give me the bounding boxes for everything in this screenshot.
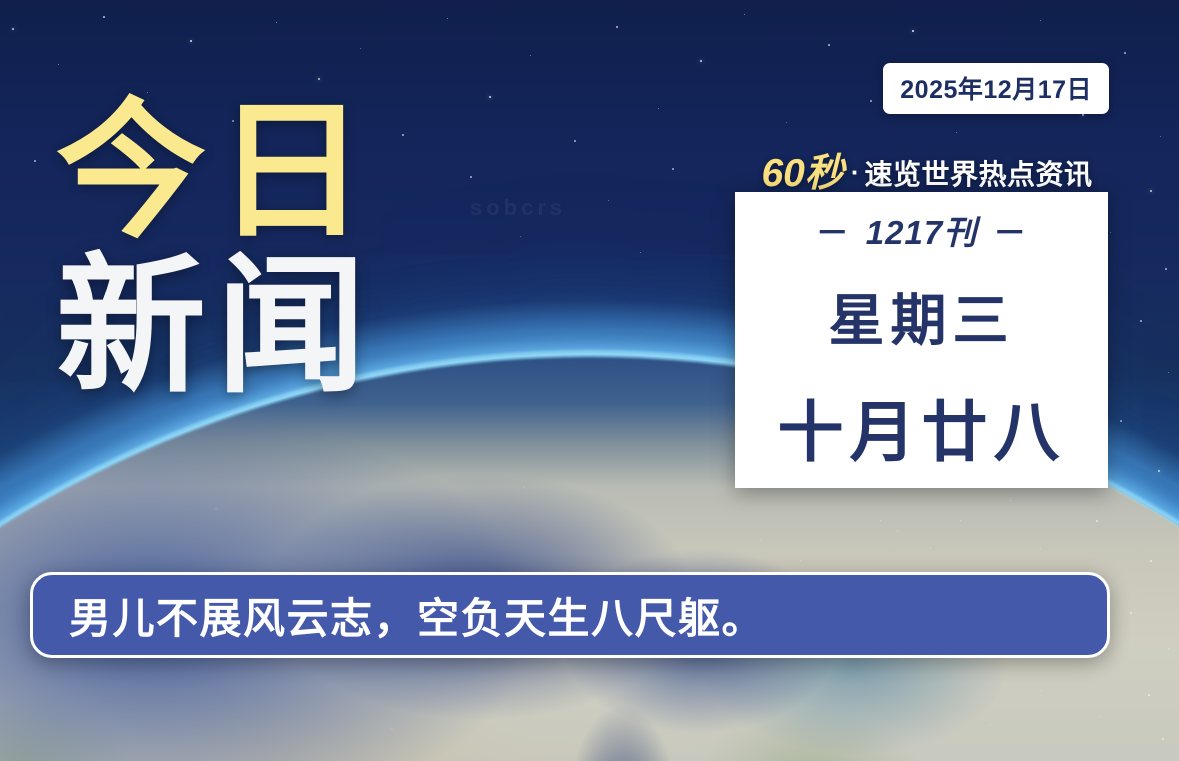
title-line-news: 新闻: [56, 253, 376, 400]
tagline-separator: ·: [844, 157, 865, 187]
issue-dash-right: －: [993, 206, 1027, 254]
date-badge: 2025年12月17日: [883, 63, 1109, 114]
issue-row: － 1217刊 －: [816, 206, 1027, 254]
tagline-text: 速览世界热点资讯: [865, 159, 1093, 190]
tagline-seconds: 60秒: [761, 152, 843, 195]
lunar-date-label: 十月廿八: [778, 379, 1066, 475]
poster-title: 今日 新闻: [56, 98, 376, 400]
quote-banner: 男儿不展风云志，空负天生八尺躯。: [30, 572, 1110, 658]
quote-text: 男儿不展风云志，空负天生八尺躯。: [69, 585, 765, 646]
issue-dash-left: －: [816, 206, 850, 254]
title-line-today: 今日: [56, 98, 376, 245]
weekday-label: 星期三: [829, 276, 1015, 357]
tagline: 60秒·速览世界热点资讯: [742, 142, 1112, 198]
news-poster: sobcrs 今日 新闻 2025年12月17日 60秒·速览世界热点资讯 － …: [0, 0, 1179, 761]
issue-number: 1217刊: [866, 206, 977, 254]
date-card: － 1217刊 － 星期三 十月廿八: [735, 192, 1108, 488]
